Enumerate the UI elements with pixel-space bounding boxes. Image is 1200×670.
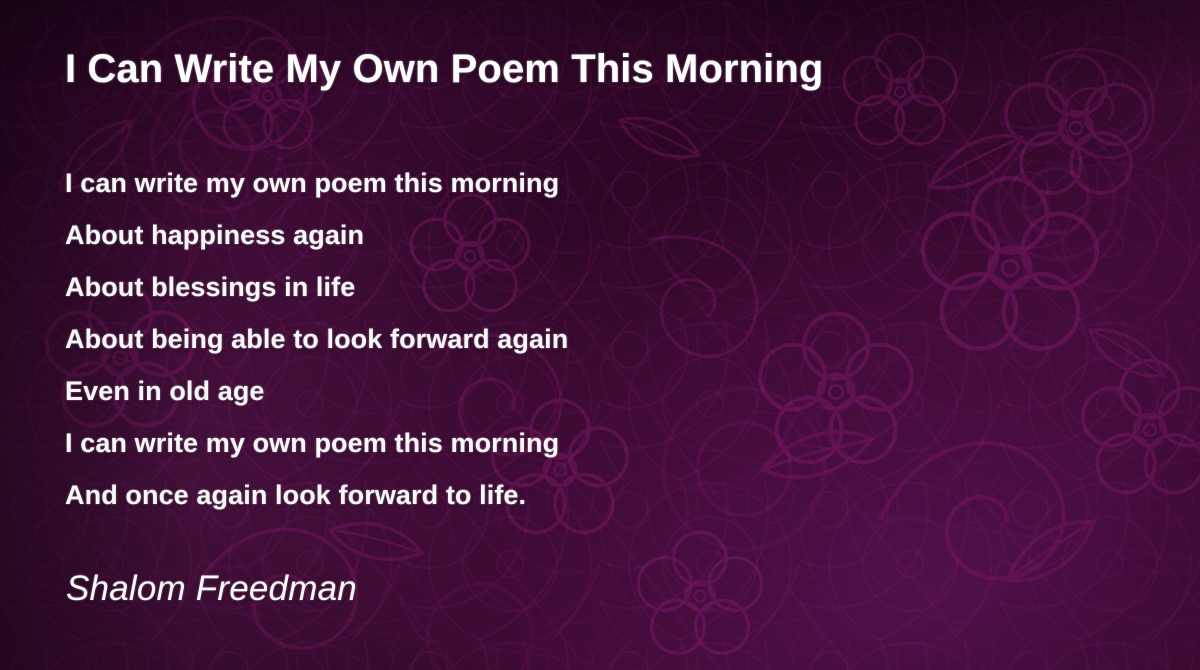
poem-author: Shalom Freedman (66, 569, 357, 609)
page-title: I Can Write My Own Poem This Morning (65, 48, 823, 91)
poem-line: About blessings in life (65, 261, 568, 313)
poem-line: About happiness again (65, 209, 568, 261)
poem-line: About being able to look forward again (65, 313, 568, 365)
poem-card: I Can Write My Own Poem This Morning I c… (0, 0, 1200, 670)
poem-line: I can write my own poem this morning (65, 417, 568, 469)
poem-line: I can write my own poem this morning (65, 157, 568, 209)
poem-line: Even in old age (65, 365, 568, 417)
poem-body: I can write my own poem this morning Abo… (65, 157, 568, 521)
poem-line: And once again look forward to life. (65, 469, 568, 521)
